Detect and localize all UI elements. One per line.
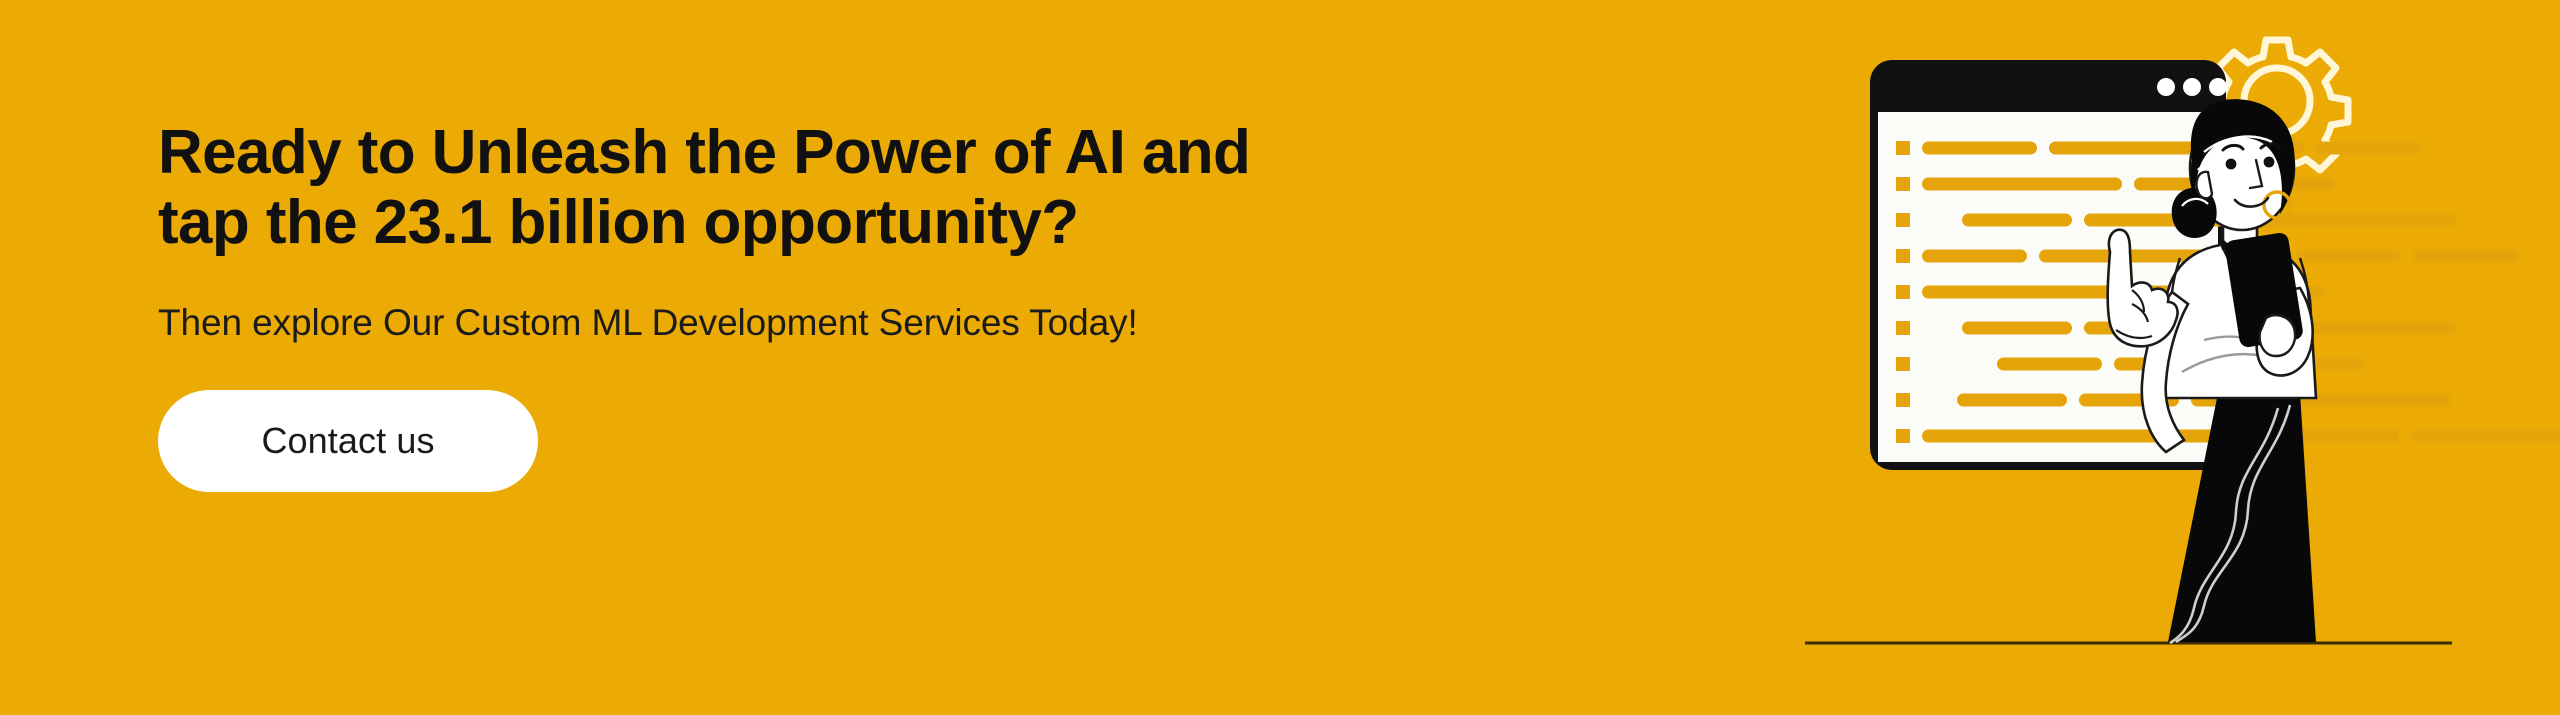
code-bullet — [1896, 213, 1910, 227]
code-segment — [2316, 142, 2421, 155]
code-bullet — [1896, 393, 1910, 407]
code-segment — [1922, 250, 2027, 263]
code-bullet — [1896, 321, 1910, 335]
hand-right — [2260, 315, 2295, 356]
eye-left — [2226, 159, 2237, 170]
cta-banner: Ready to Unleash the Power of AI and tap… — [0, 0, 2560, 715]
code-segment — [2296, 250, 2401, 263]
code-segment — [1962, 214, 2072, 227]
code-segment — [2411, 430, 2560, 443]
code-segment — [1962, 322, 2072, 335]
headline-line-1: Ready to Unleash the Power of AI and — [158, 118, 1638, 188]
code-segment — [1922, 430, 2242, 443]
code-bullet — [1896, 177, 1910, 191]
contact-us-button[interactable]: Contact us — [158, 390, 538, 492]
code-bullet — [1896, 141, 1910, 155]
window-dots — [2157, 78, 2227, 96]
cta-wrapper: Contact us — [158, 346, 1778, 492]
window-dot — [2183, 78, 2201, 96]
window-dot — [2209, 78, 2227, 96]
subheadline: Then explore Our Custom ML Development S… — [158, 258, 1778, 346]
code-segment — [1922, 142, 2037, 155]
code-bullet — [1896, 285, 1910, 299]
page-title: Ready to Unleash the Power of AI and tap… — [158, 118, 1638, 258]
copy-block: Ready to Unleash the Power of AI and tap… — [158, 118, 1778, 492]
code-segment — [1957, 394, 2067, 407]
code-segment — [1922, 286, 2117, 299]
code-bullet — [1896, 429, 1910, 443]
code-bullet — [1896, 249, 1910, 263]
code-segment — [1997, 358, 2102, 371]
ear — [2196, 172, 2212, 198]
hero-illustration — [1780, 0, 2560, 715]
code-segment — [1922, 178, 2122, 191]
code-bullet — [1896, 357, 1910, 371]
eye-right — [2264, 157, 2275, 168]
window-dot — [2157, 78, 2175, 96]
code-segment — [2413, 250, 2518, 263]
headline-line-2: tap the 23.1 billion opportunity? — [158, 188, 1638, 258]
illustration-svg — [1780, 0, 2560, 715]
code-segment — [2084, 214, 2184, 227]
